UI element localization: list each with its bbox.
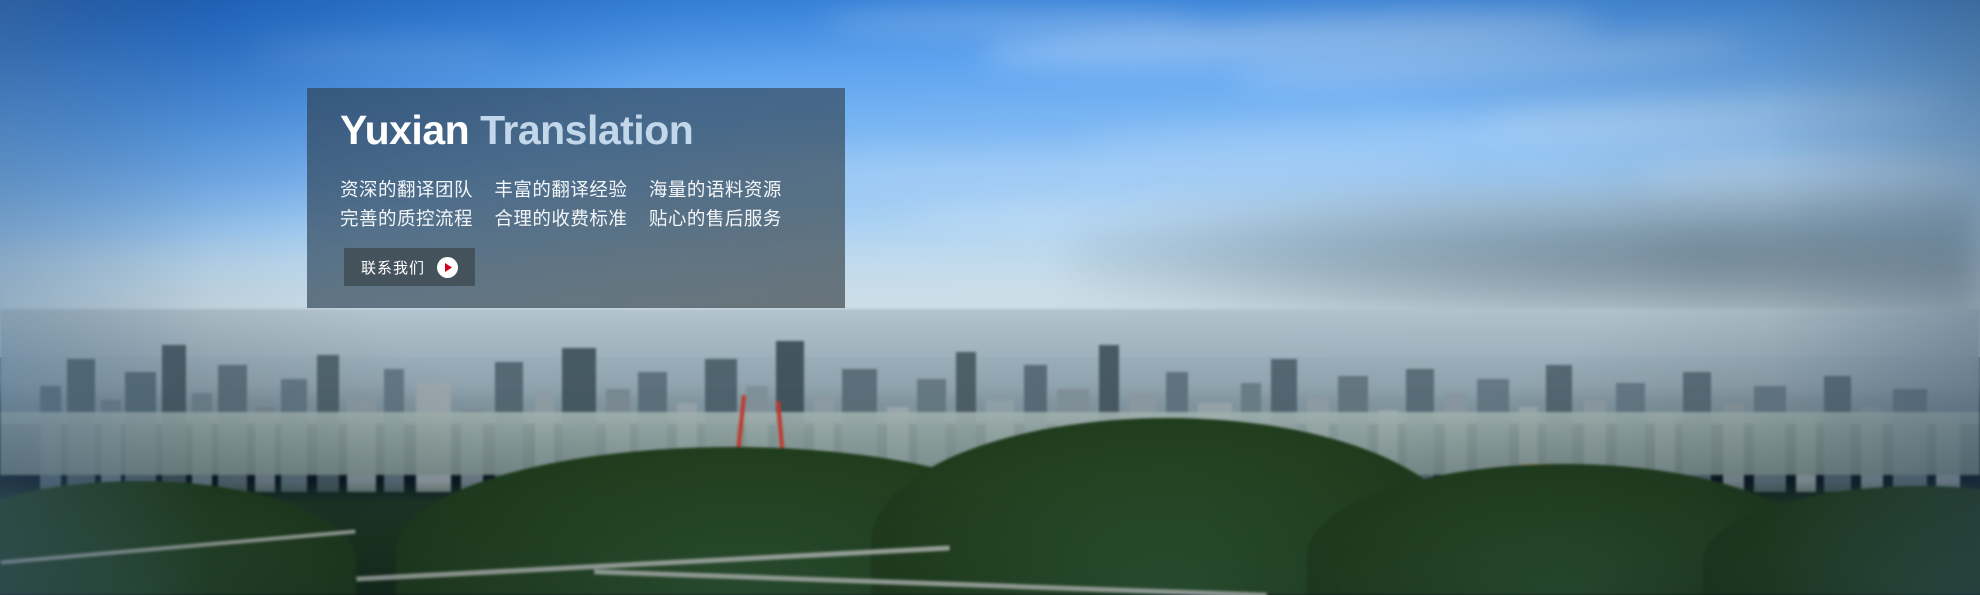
title-primary: Yuxian (340, 107, 469, 153)
hero-banner: Yuxian Translation 资深的翻译团队 丰富的翻译经验 海量的语料… (0, 0, 1980, 595)
feature-item: 资深的翻译团队 (340, 180, 473, 201)
contact-us-button[interactable]: 联系我们 (344, 248, 475, 286)
contact-us-label: 联系我们 (361, 257, 425, 278)
feature-item: 贴心的售后服务 (649, 209, 782, 230)
feature-item: 完善的质控流程 (340, 209, 473, 230)
page-title: Yuxian Translation (340, 110, 693, 151)
feature-item: 海量的语料资源 (649, 180, 782, 201)
cloud-wisp (820, 8, 1200, 34)
play-arrow-right-icon (437, 257, 458, 278)
cloud-wisp (250, 40, 510, 62)
feature-item: 合理的收费标准 (494, 209, 627, 230)
feature-line-2: 完善的质控流程 合理的收费标准 贴心的售后服务 (340, 205, 782, 231)
title-secondary: Translation (480, 107, 693, 153)
hero-text-panel: Yuxian Translation 资深的翻译团队 丰富的翻译经验 海量的语料… (307, 88, 845, 308)
city-skyline-photo (0, 309, 1980, 595)
feature-line-1: 资深的翻译团队 丰富的翻译经验 海量的语料资源 (340, 176, 782, 202)
feature-item: 丰富的翻译经验 (494, 180, 627, 201)
